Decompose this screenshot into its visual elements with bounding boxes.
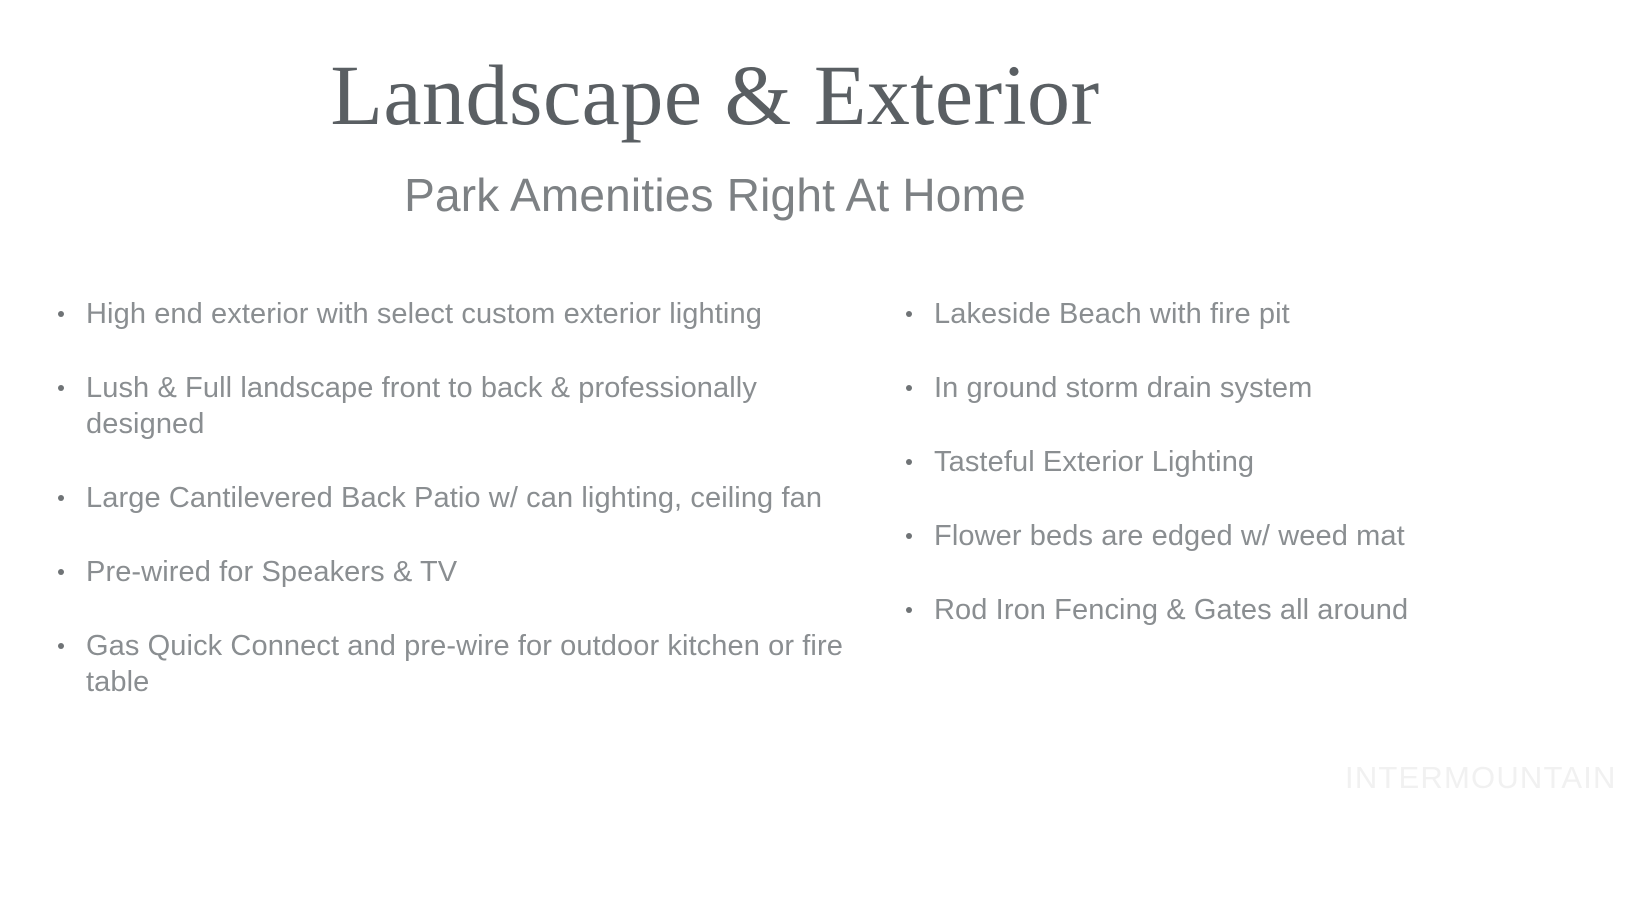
list-item-label: High end exterior with select custom ext…	[86, 296, 858, 332]
list-item-label: Rod Iron Fencing & Gates all around	[934, 592, 1514, 628]
right-bullet-list: Lakeside Beach with fire pit In ground s…	[894, 296, 1514, 628]
content-columns: High end exterior with select custom ext…	[0, 296, 1632, 766]
bullet-dot-icon	[58, 569, 64, 575]
list-item-label: Flower beds are edged w/ weed mat	[934, 518, 1514, 554]
list-item-label: Pre-wired for Speakers & TV	[86, 554, 858, 590]
list-item-label: Large Cantilevered Back Patio w/ can lig…	[86, 480, 858, 516]
list-item-label: Lush & Full landscape front to back & pr…	[86, 370, 858, 442]
list-item-label: In ground storm drain system	[934, 370, 1514, 406]
list-item: Flower beds are edged w/ weed mat	[894, 518, 1514, 554]
list-item: Tasteful Exterior Lighting	[894, 444, 1514, 480]
bullet-dot-icon	[58, 385, 64, 391]
left-column: High end exterior with select custom ext…	[48, 296, 858, 700]
list-item: Large Cantilevered Back Patio w/ can lig…	[48, 480, 858, 516]
bullet-dot-icon	[58, 495, 64, 501]
list-item: Lush & Full landscape front to back & pr…	[48, 370, 858, 442]
watermark-label: INTERMOUNTAIN	[1345, 760, 1617, 796]
bullet-dot-icon	[906, 607, 912, 613]
list-item: High end exterior with select custom ext…	[48, 296, 858, 332]
bullet-dot-icon	[58, 311, 64, 317]
list-item-label: Tasteful Exterior Lighting	[934, 444, 1514, 480]
page-title: Landscape & Exterior	[0, 0, 1430, 138]
slide-header: Landscape & Exterior Park Amenities Righ…	[0, 0, 1430, 218]
bullet-dot-icon	[906, 533, 912, 539]
left-bullet-list: High end exterior with select custom ext…	[48, 296, 858, 700]
bullet-dot-icon	[58, 643, 64, 649]
page-subtitle: Park Amenities Right At Home	[0, 138, 1430, 218]
list-item-label: Gas Quick Connect and pre-wire for outdo…	[86, 628, 858, 700]
bullet-dot-icon	[906, 385, 912, 391]
list-item: Pre-wired for Speakers & TV	[48, 554, 858, 590]
list-item: In ground storm drain system	[894, 370, 1514, 406]
bullet-dot-icon	[906, 311, 912, 317]
list-item: Lakeside Beach with fire pit	[894, 296, 1514, 332]
list-item: Rod Iron Fencing & Gates all around	[894, 592, 1514, 628]
slide-canvas: Landscape & Exterior Park Amenities Righ…	[0, 0, 1632, 916]
list-item-label: Lakeside Beach with fire pit	[934, 296, 1514, 332]
bullet-dot-icon	[906, 459, 912, 465]
list-item: Gas Quick Connect and pre-wire for outdo…	[48, 628, 858, 700]
right-column: Lakeside Beach with fire pit In ground s…	[894, 296, 1514, 628]
